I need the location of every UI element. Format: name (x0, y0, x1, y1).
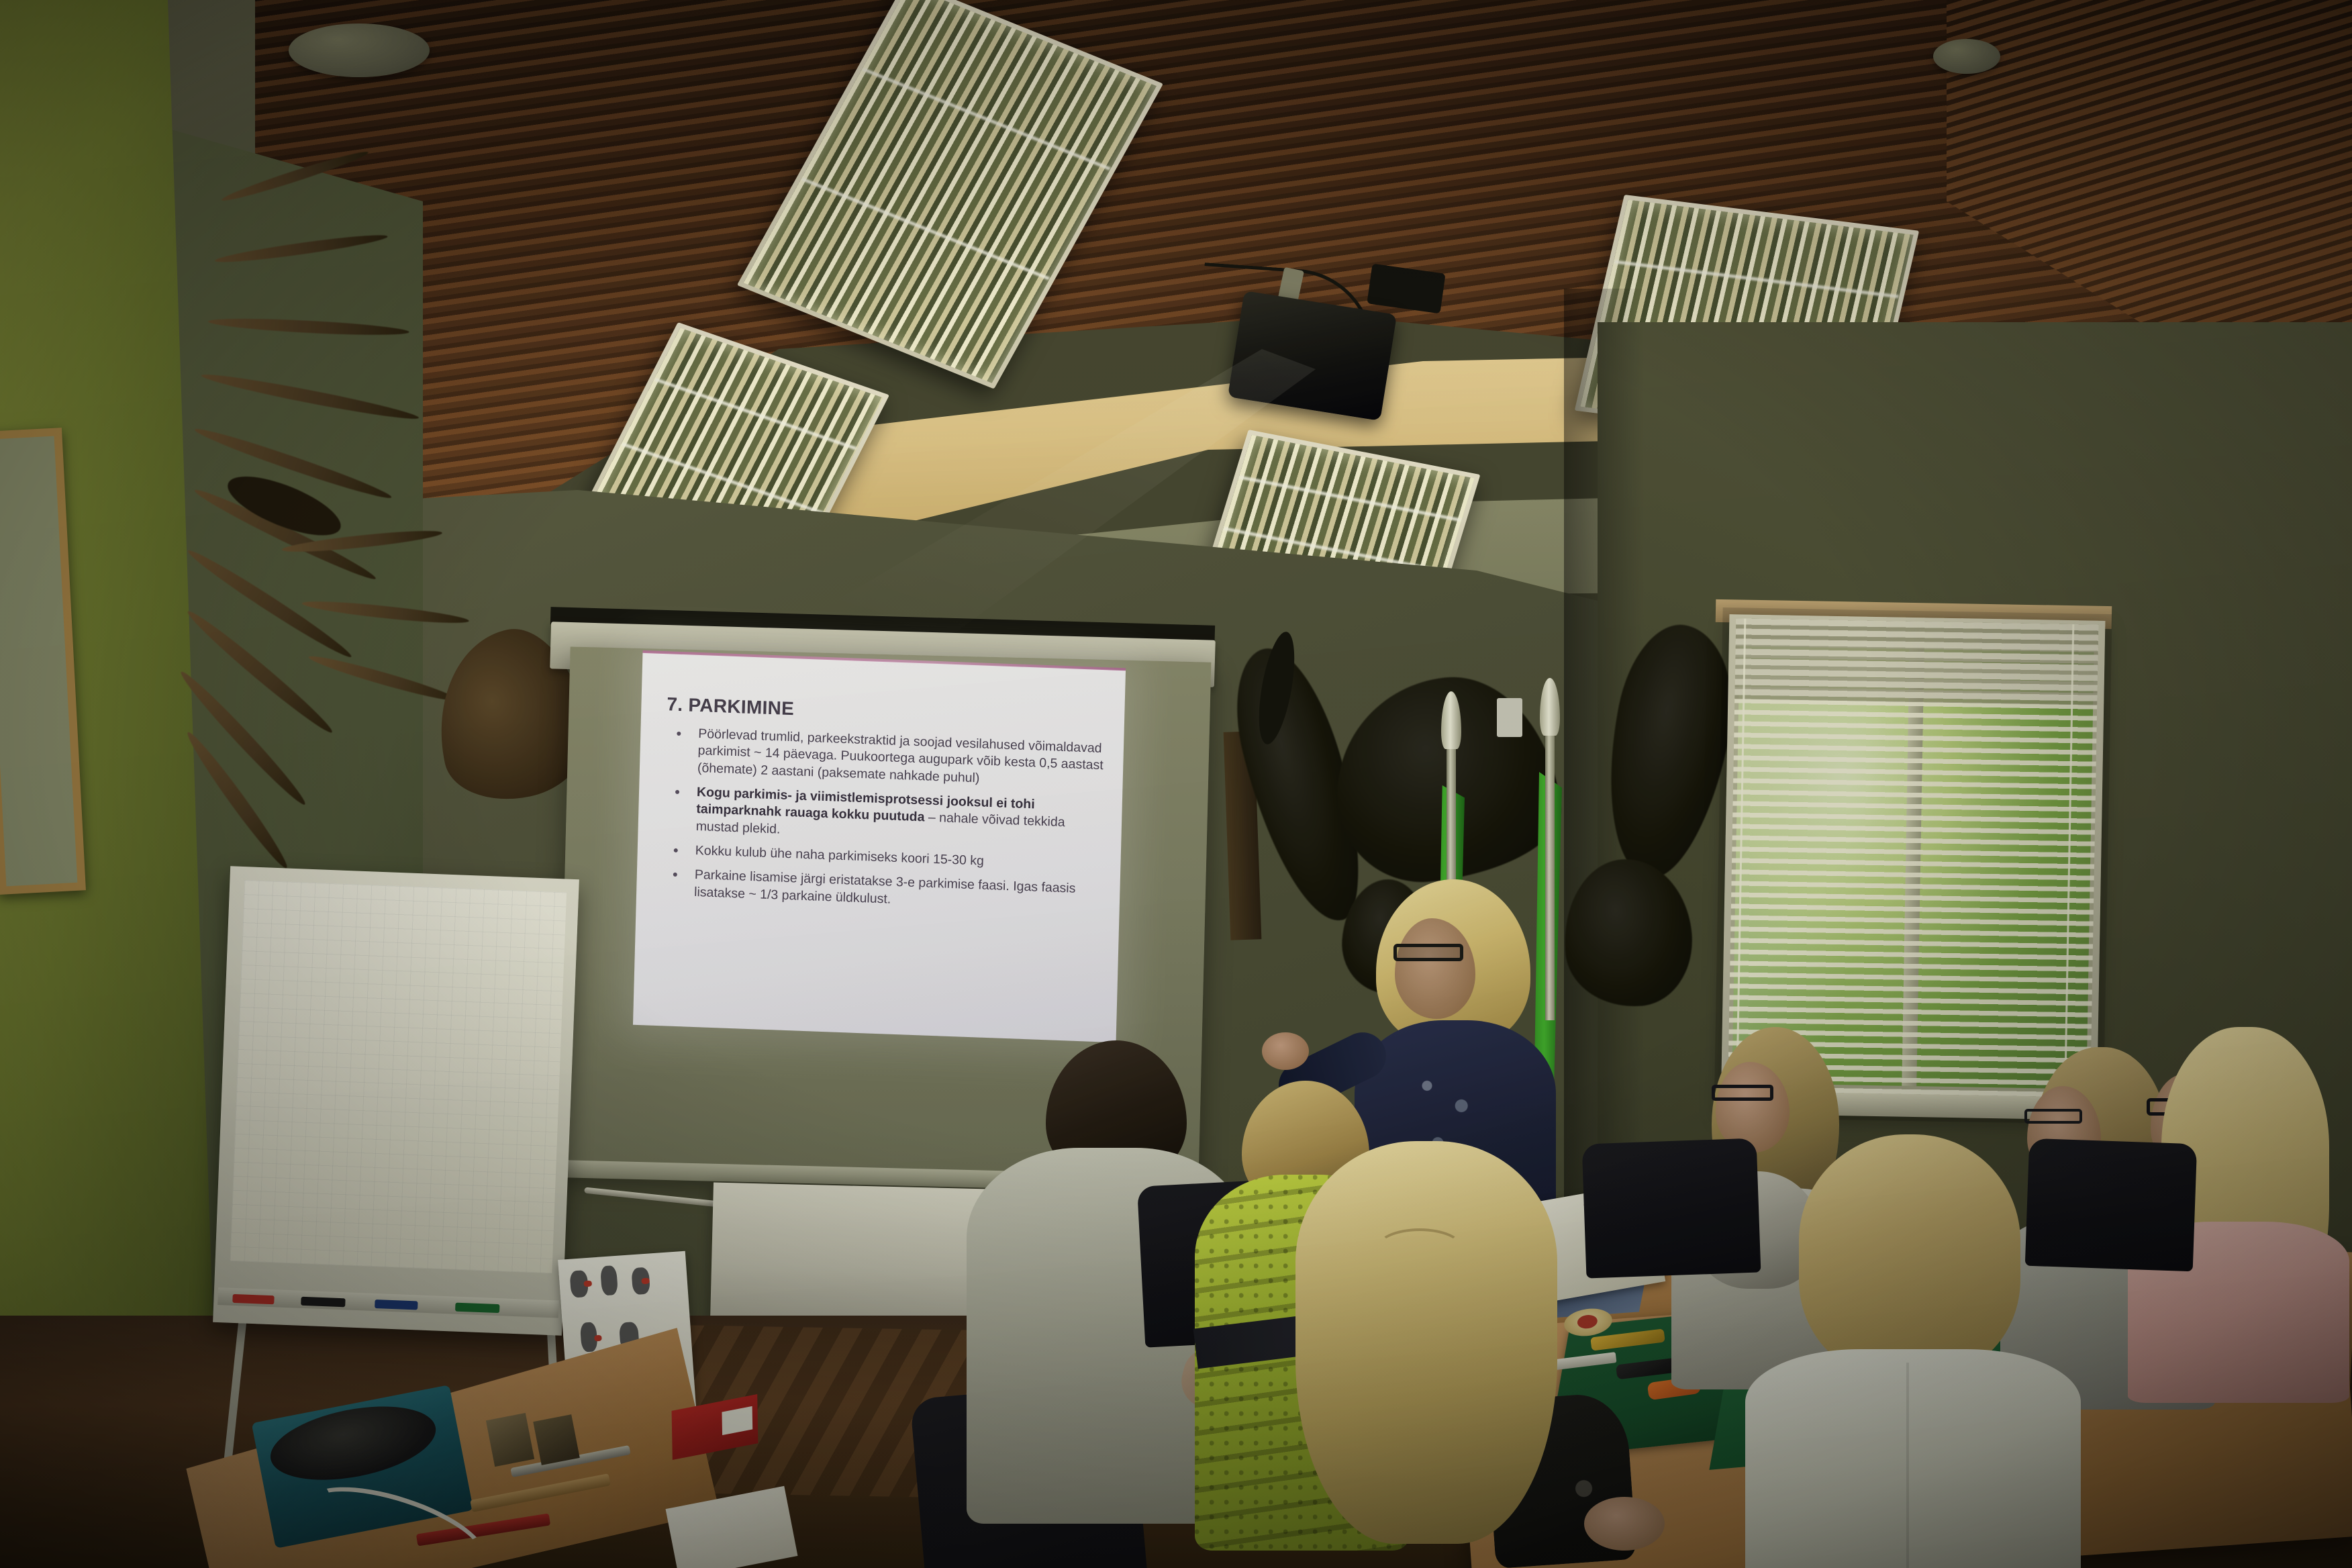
glasses-icon (1393, 944, 1463, 961)
glasses-icon (2024, 1109, 2082, 1124)
light-switch[interactable] (1497, 698, 1522, 737)
smoke-detector-icon (1933, 39, 2000, 74)
projected-slide: 7. PARKIMINE Pöörlevad trumlid, parkeeks… (633, 652, 1126, 1042)
slide-bullet-4-text: Parkaine lisamise järgi eristatakse 3-e … (694, 867, 1076, 906)
torso (1745, 1349, 2081, 1568)
shirt-pleat (1906, 1363, 1909, 1568)
flipchart-grid-paper (230, 880, 567, 1273)
hand (1584, 1497, 1665, 1551)
marker-green[interactable] (455, 1303, 499, 1314)
marker-red[interactable] (232, 1294, 274, 1304)
hair-parting (1376, 1228, 1463, 1269)
hair (1295, 1141, 1557, 1544)
office-chair[interactable] (1582, 1138, 1761, 1279)
glasses-icon (1712, 1085, 1773, 1101)
slide-title: 7. PARKIMINE (667, 693, 1107, 731)
hand (1262, 1032, 1309, 1070)
venetian-blinds-stack[interactable] (1734, 618, 2098, 705)
stamp-tool[interactable] (486, 1413, 534, 1467)
slide-bullet-1: Pöörlevad trumlid, parkeekstraktid ja so… (661, 724, 1107, 791)
smoke-detector-icon (289, 23, 430, 77)
slide-bullet-2: Kogu parkimis- ja viimistlemisprotsessi … (659, 783, 1105, 850)
marker-blue[interactable] (375, 1300, 418, 1310)
person-woman-long-blonde (1269, 1141, 1591, 1568)
red-box-label (722, 1406, 752, 1435)
slide-bullet-1-text: Pöörlevad trumlid, parkeekstraktid ja so… (697, 726, 1104, 785)
slide-bullet-4: Parkaine lisamise järgi eristatakse 3-e … (658, 865, 1103, 916)
hair (1799, 1134, 2020, 1376)
slide-bullet-list: Pöörlevad trumlid, parkeekstraktid ja so… (658, 724, 1106, 916)
seminar-room-photo: 7. PARKIMINE Pöörlevad trumlid, parkeeks… (0, 0, 2352, 1568)
flipchart-easel[interactable] (213, 866, 579, 1335)
person-woman-white-shirt (1738, 1148, 2088, 1568)
slide-bullet-3-text: Kokku kulub ühe naha parkimiseks koori 1… (695, 843, 984, 869)
stamp-tool[interactable] (533, 1414, 580, 1465)
marker-black[interactable] (301, 1297, 345, 1308)
